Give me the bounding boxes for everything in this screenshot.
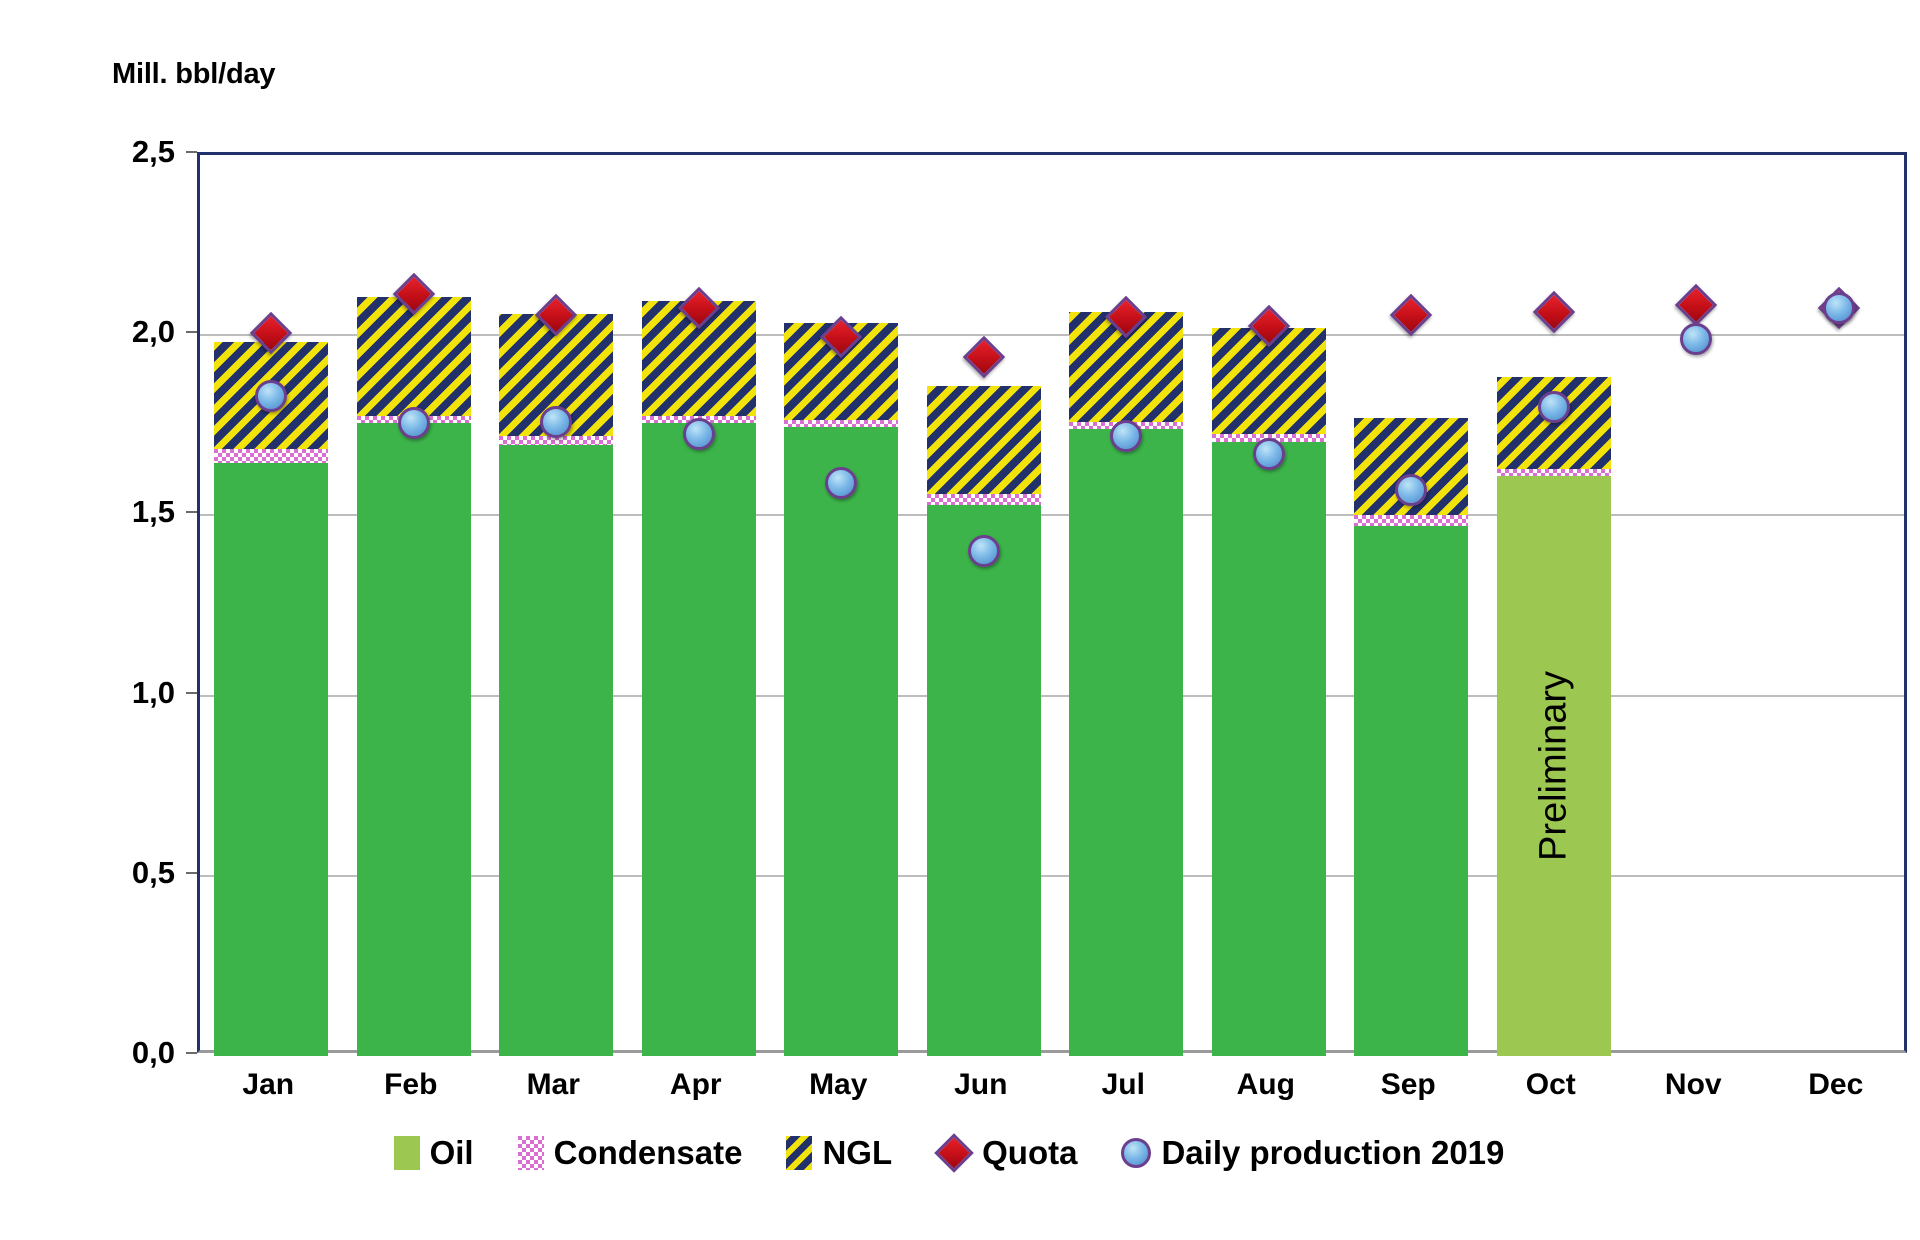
stacked-bar[interactable] [1069,155,1183,1050]
y-axis-tick [186,872,197,874]
daily-production-marker[interactable] [1680,323,1712,355]
chart-legend: OilCondensateNGLQuotaDaily production 20… [0,1134,1920,1172]
bar-segment-oil [927,505,1041,1056]
legend-item[interactable]: Quota [936,1134,1077,1172]
bar-segment-oil [499,445,613,1056]
x-axis-tick-label: Feb [384,1068,437,1102]
daily-production-marker[interactable] [255,380,287,412]
stacked-bar[interactable] [927,155,1041,1050]
oil-swatch-icon [394,1136,420,1170]
daily-production-marker[interactable] [540,406,572,438]
daily-production-marker[interactable] [1538,391,1570,423]
bar-segment-oil: Preliminary [1497,476,1611,1056]
condensate-swatch-icon [518,1136,544,1170]
bar-segment-oil [784,427,898,1056]
y-axis-tick [186,511,197,513]
legend-item-label: NGL [822,1134,892,1172]
bar-segment-oil [642,423,756,1056]
y-axis-tick-label: 2,0 [55,314,175,350]
bar-segment-ngl [927,386,1041,494]
legend-item[interactable]: Oil [394,1134,474,1172]
legend-item[interactable]: NGL [786,1134,892,1172]
x-axis-tick-label: Oct [1526,1068,1576,1102]
stacked-bar[interactable] [1354,155,1468,1050]
y-axis-title: Mill. bbl/day [112,58,275,91]
y-axis-tick [186,1052,197,1054]
bar-series-group: Preliminary [200,155,1904,1050]
bar-segment-condensate [1497,469,1611,476]
x-axis-tick-label: May [809,1068,867,1102]
x-axis-tick-label: Jan [242,1068,294,1102]
plot-area: Preliminary [197,152,1907,1053]
daily-production-marker[interactable] [968,535,1000,567]
daily-production-marker[interactable] [825,467,857,499]
x-axis-tick-label: Aug [1237,1068,1295,1102]
ngl-swatch-icon [786,1136,812,1170]
chart-container: Mill. bbl/day 2,52,01,51,00,50,0 Prelimi… [0,0,1920,1240]
bar-segment-oil [357,423,471,1056]
daily-production-marker[interactable] [1253,438,1285,470]
bar-segment-oil [1069,429,1183,1056]
bar-segment-condensate [214,449,328,463]
x-axis-tick-label: Apr [670,1068,722,1102]
stacked-bar[interactable] [214,155,328,1050]
x-axis-tick-label: Jul [1102,1068,1145,1102]
y-axis-tick-label: 0,5 [55,855,175,891]
legend-item-label: Condensate [554,1134,743,1172]
daily-production-marker[interactable] [398,407,430,439]
y-axis-tick [186,331,197,333]
daily-production-marker[interactable] [1823,292,1855,324]
y-axis-tick-label: 2,5 [55,134,175,170]
legend-item-label: Daily production 2019 [1161,1134,1504,1172]
legend-item-label: Oil [430,1134,474,1172]
preliminary-label: Preliminary [1532,671,1575,861]
x-axis-tick-label: Mar [527,1068,580,1102]
bar-segment-condensate [784,420,898,427]
bar-segment-condensate [1354,515,1468,526]
y-axis-tick-label: 1,5 [55,494,175,530]
y-axis-tick-label: 0,0 [55,1035,175,1071]
legend-item[interactable]: Condensate [518,1134,743,1172]
y-axis-tick [186,692,197,694]
x-axis-tick-label: Nov [1665,1068,1722,1102]
x-axis-tick-label: Dec [1808,1068,1863,1102]
bar-segment-oil [1212,442,1326,1056]
y-axis-tick-label: 1,0 [55,675,175,711]
bar-segment-oil [1354,526,1468,1056]
y-axis-tick [186,151,197,153]
legend-item-label: Quota [982,1134,1077,1172]
bar-segment-oil [214,463,328,1056]
x-axis-tick-label: Jun [954,1068,1007,1102]
stacked-bar[interactable] [1212,155,1326,1050]
stacked-bar[interactable]: Preliminary [1497,155,1611,1050]
legend-item[interactable]: Daily production 2019 [1121,1134,1504,1172]
daily-production-marker[interactable] [683,418,715,450]
quota-diamond-swatch-icon [934,1133,974,1173]
x-axis-tick-label: Sep [1381,1068,1436,1102]
daily-production-marker[interactable] [1110,420,1142,452]
stacked-bar[interactable] [499,155,613,1050]
stacked-bar[interactable] [784,155,898,1050]
daily-production-marker[interactable] [1395,474,1427,506]
daily-production-circle-swatch-icon [1121,1138,1151,1168]
bar-segment-condensate [927,494,1041,505]
